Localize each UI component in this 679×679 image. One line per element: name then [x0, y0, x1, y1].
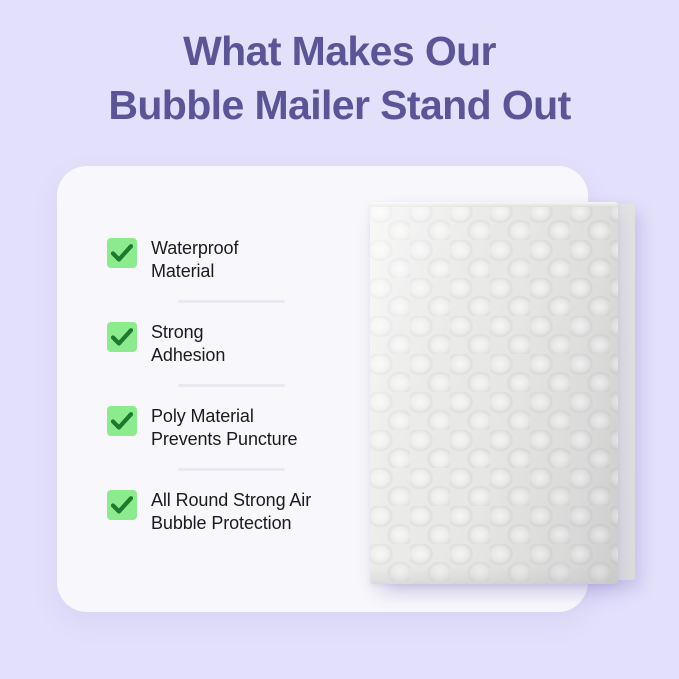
check-icon: [107, 322, 137, 352]
list-divider: [178, 300, 285, 303]
feature-label-line-1: Strong: [151, 321, 225, 344]
list-item: Poly Material Prevents Puncture: [107, 404, 337, 451]
page-title-line-1: What Makes Our: [0, 24, 679, 78]
page-title-line-2: Bubble Mailer Stand Out: [0, 78, 679, 132]
feature-label: Strong Adhesion: [151, 320, 225, 367]
feature-label-line-2: Adhesion: [151, 344, 225, 367]
feature-label: All Round Strong Air Bubble Protection: [151, 488, 311, 535]
list-item: Waterproof Material: [107, 236, 337, 283]
mailer-bottom-seal: [370, 566, 618, 584]
feature-label-line-1: Waterproof: [151, 237, 238, 260]
check-icon: [107, 406, 137, 436]
bubble-texture: [370, 202, 618, 584]
page-title: What Makes Our Bubble Mailer Stand Out: [0, 24, 679, 132]
check-icon: [107, 238, 137, 268]
product-image-bubble-mailer: [366, 196, 642, 590]
list-item: Strong Adhesion: [107, 320, 337, 367]
list-item: All Round Strong Air Bubble Protection: [107, 488, 337, 535]
feature-label-line-1: All Round Strong Air: [151, 489, 311, 512]
list-divider: [178, 384, 285, 387]
feature-label-line-2: Prevents Puncture: [151, 428, 297, 451]
check-icon: [107, 490, 137, 520]
list-divider: [178, 468, 285, 471]
mailer-flap-seam: [370, 202, 618, 207]
feature-label: Waterproof Material: [151, 236, 238, 283]
feature-label-line-2: Bubble Protection: [151, 512, 311, 535]
feature-label: Poly Material Prevents Puncture: [151, 404, 297, 451]
feature-label-line-2: Material: [151, 260, 238, 283]
feature-label-line-1: Poly Material: [151, 405, 297, 428]
feature-list: Waterproof Material Strong Adhesion Poly…: [107, 236, 337, 535]
mailer-front-panel: [370, 202, 618, 584]
